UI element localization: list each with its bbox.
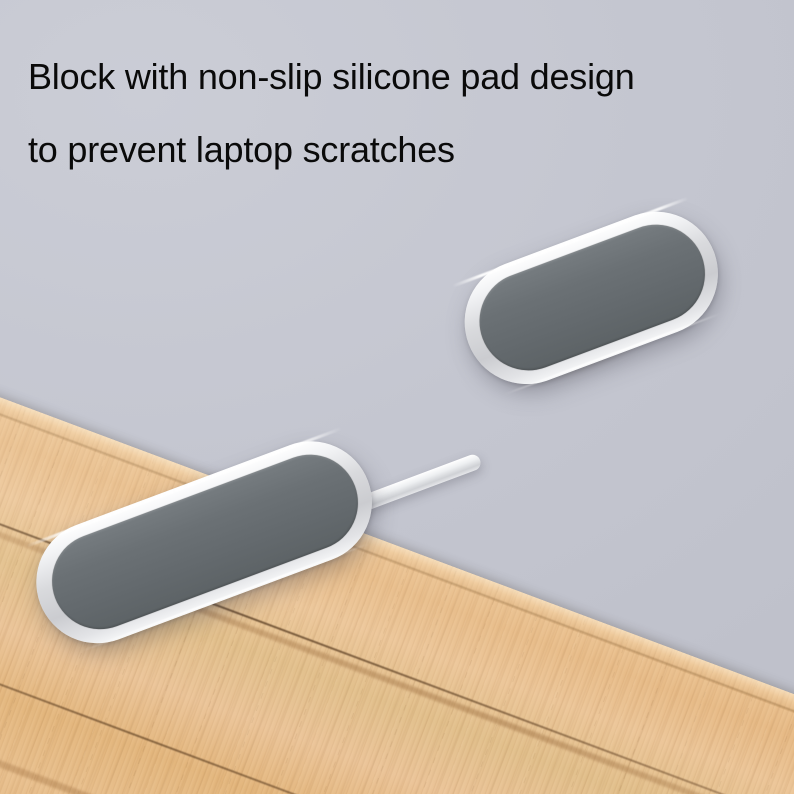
caption: Block with non-slip silicone pad design … <box>28 40 768 186</box>
caption-line-2: to prevent laptop scratches <box>28 113 768 186</box>
caption-line-1: Block with non-slip silicone pad design <box>28 40 768 113</box>
product-image: Block with non-slip silicone pad design … <box>0 0 794 794</box>
